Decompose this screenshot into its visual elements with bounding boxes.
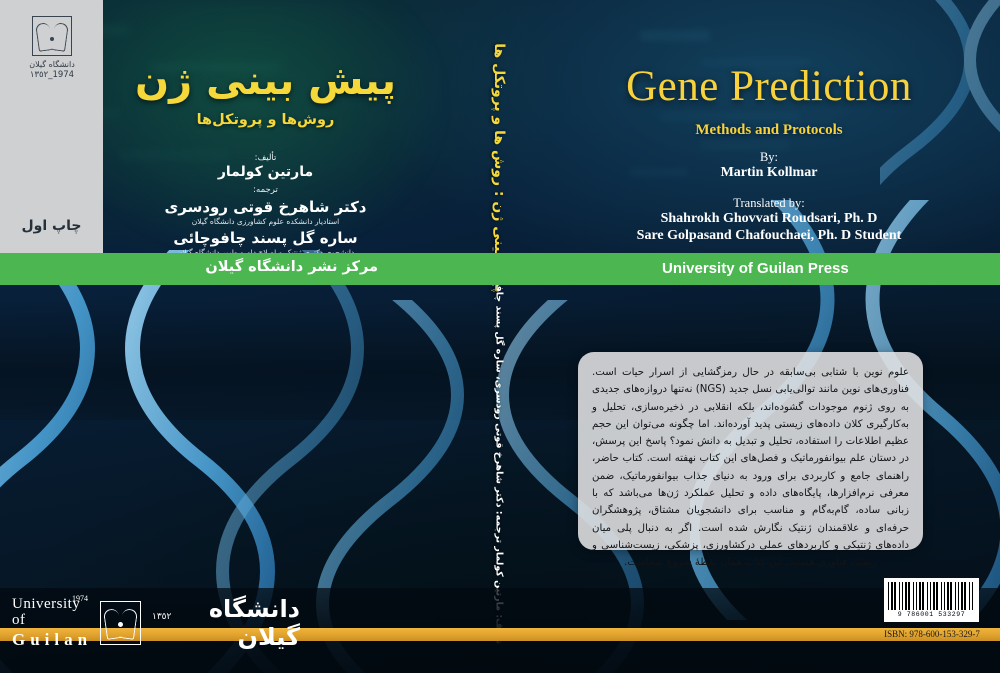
front-translated-label: Translated by:	[538, 196, 1000, 211]
back-cover-panel: پیش بینی ژن روش‌ها و پروتکل‌ها تألیف: ما…	[103, 0, 460, 253]
publisher-name-fa: مرکز نشر دانشگاه گیلان	[205, 259, 378, 275]
isbn-label: ISBN: 978-600-153-329-7	[868, 629, 996, 639]
front-author-name: Martin Kollmar	[538, 165, 1000, 181]
front-translator-2: Sare Golpasand Chafouchaei, Ph. D Studen…	[538, 228, 1000, 244]
edition-label: چاپ اول	[0, 218, 103, 234]
logo-year-fa: ١٣٥٢	[152, 612, 171, 622]
back-flap-panel: دانشگاه گیلان ١٣٥٢_1974 چاپ اول	[0, 0, 103, 253]
back-cover-blurb-box: علوم نوین با شتابی بی‌سابقه در حال رمزگش…	[578, 352, 923, 550]
publisher-name-en: University of Guilan Press	[662, 260, 849, 277]
back-subtitle: روش‌ها و پروتکل‌ها	[103, 112, 428, 128]
front-translator-1: Shahrokh Ghovvati Roudsari, Ph. D	[538, 211, 1000, 227]
front-subtitle: Methods and Protocols	[538, 122, 1000, 139]
publisher-band: مرکز نشر دانشگاه گیلان University of Gui…	[0, 253, 1000, 285]
spine-panel: پیش بینی ژن : روش ها و پروتکل ها تألیف: …	[460, 0, 538, 673]
logo-en-text: University of Guilan	[12, 597, 92, 648]
back-translator-1-affil: استادیار دانشکده علوم کشاورزی دانشگاه گی…	[103, 217, 428, 226]
back-credits: تألیف: مارتین کولمار ترجمه: دکتر شاهرخ ق…	[103, 148, 428, 257]
book-cover-artwork: دانشگاه گیلان ١٣٥٢_1974 چاپ اول پیش بینی…	[0, 0, 1000, 673]
back-author-name: مارتین کولمار	[103, 164, 428, 180]
barcode-digits: 9 786001 533297	[888, 611, 975, 618]
bottom-university-logo: 1974 University of Guilan ١٣٥٢ دانشگاه گ…	[12, 592, 302, 654]
front-cover-panel: Gene Prediction Methods and Protocols By…	[538, 0, 1000, 253]
front-title: Gene Prediction	[538, 62, 1000, 111]
spine-authors: تألیف: مارتین کولمار ترجمه: دکتر شاهرخ ق…	[494, 256, 505, 644]
back-translator-1: دکتر شاهرخ قوتی رودسری	[103, 198, 428, 216]
front-by-label: By:	[538, 150, 1000, 165]
logo-year-en: 1974	[72, 594, 88, 603]
flap-university-logo: دانشگاه گیلان ١٣٥٢_1974	[18, 16, 86, 92]
back-translator-2: ساره گل پسند چافوچائی	[103, 229, 428, 247]
logo-en-line2: Guilan	[12, 631, 92, 649]
guilan-emblem-icon	[32, 16, 72, 56]
flap-logo-years-label: ١٣٥٢_1974	[30, 70, 74, 80]
barcode: 9 786001 533297	[884, 578, 979, 622]
back-title: پیش بینی ژن	[103, 58, 428, 104]
barcode-bars-icon	[888, 582, 975, 610]
flap-logo-fa-label: دانشگاه گیلان	[29, 60, 75, 69]
back-cover-blurb-text: علوم نوین با شتابی بی‌سابقه در حال رمزگش…	[592, 364, 909, 572]
back-author-label: تألیف:	[103, 153, 428, 163]
back-translator-label: ترجمه:	[103, 185, 428, 195]
logo-fa-text: دانشگاه گیلان	[149, 595, 300, 651]
guilan-emblem-icon-large	[100, 601, 141, 645]
